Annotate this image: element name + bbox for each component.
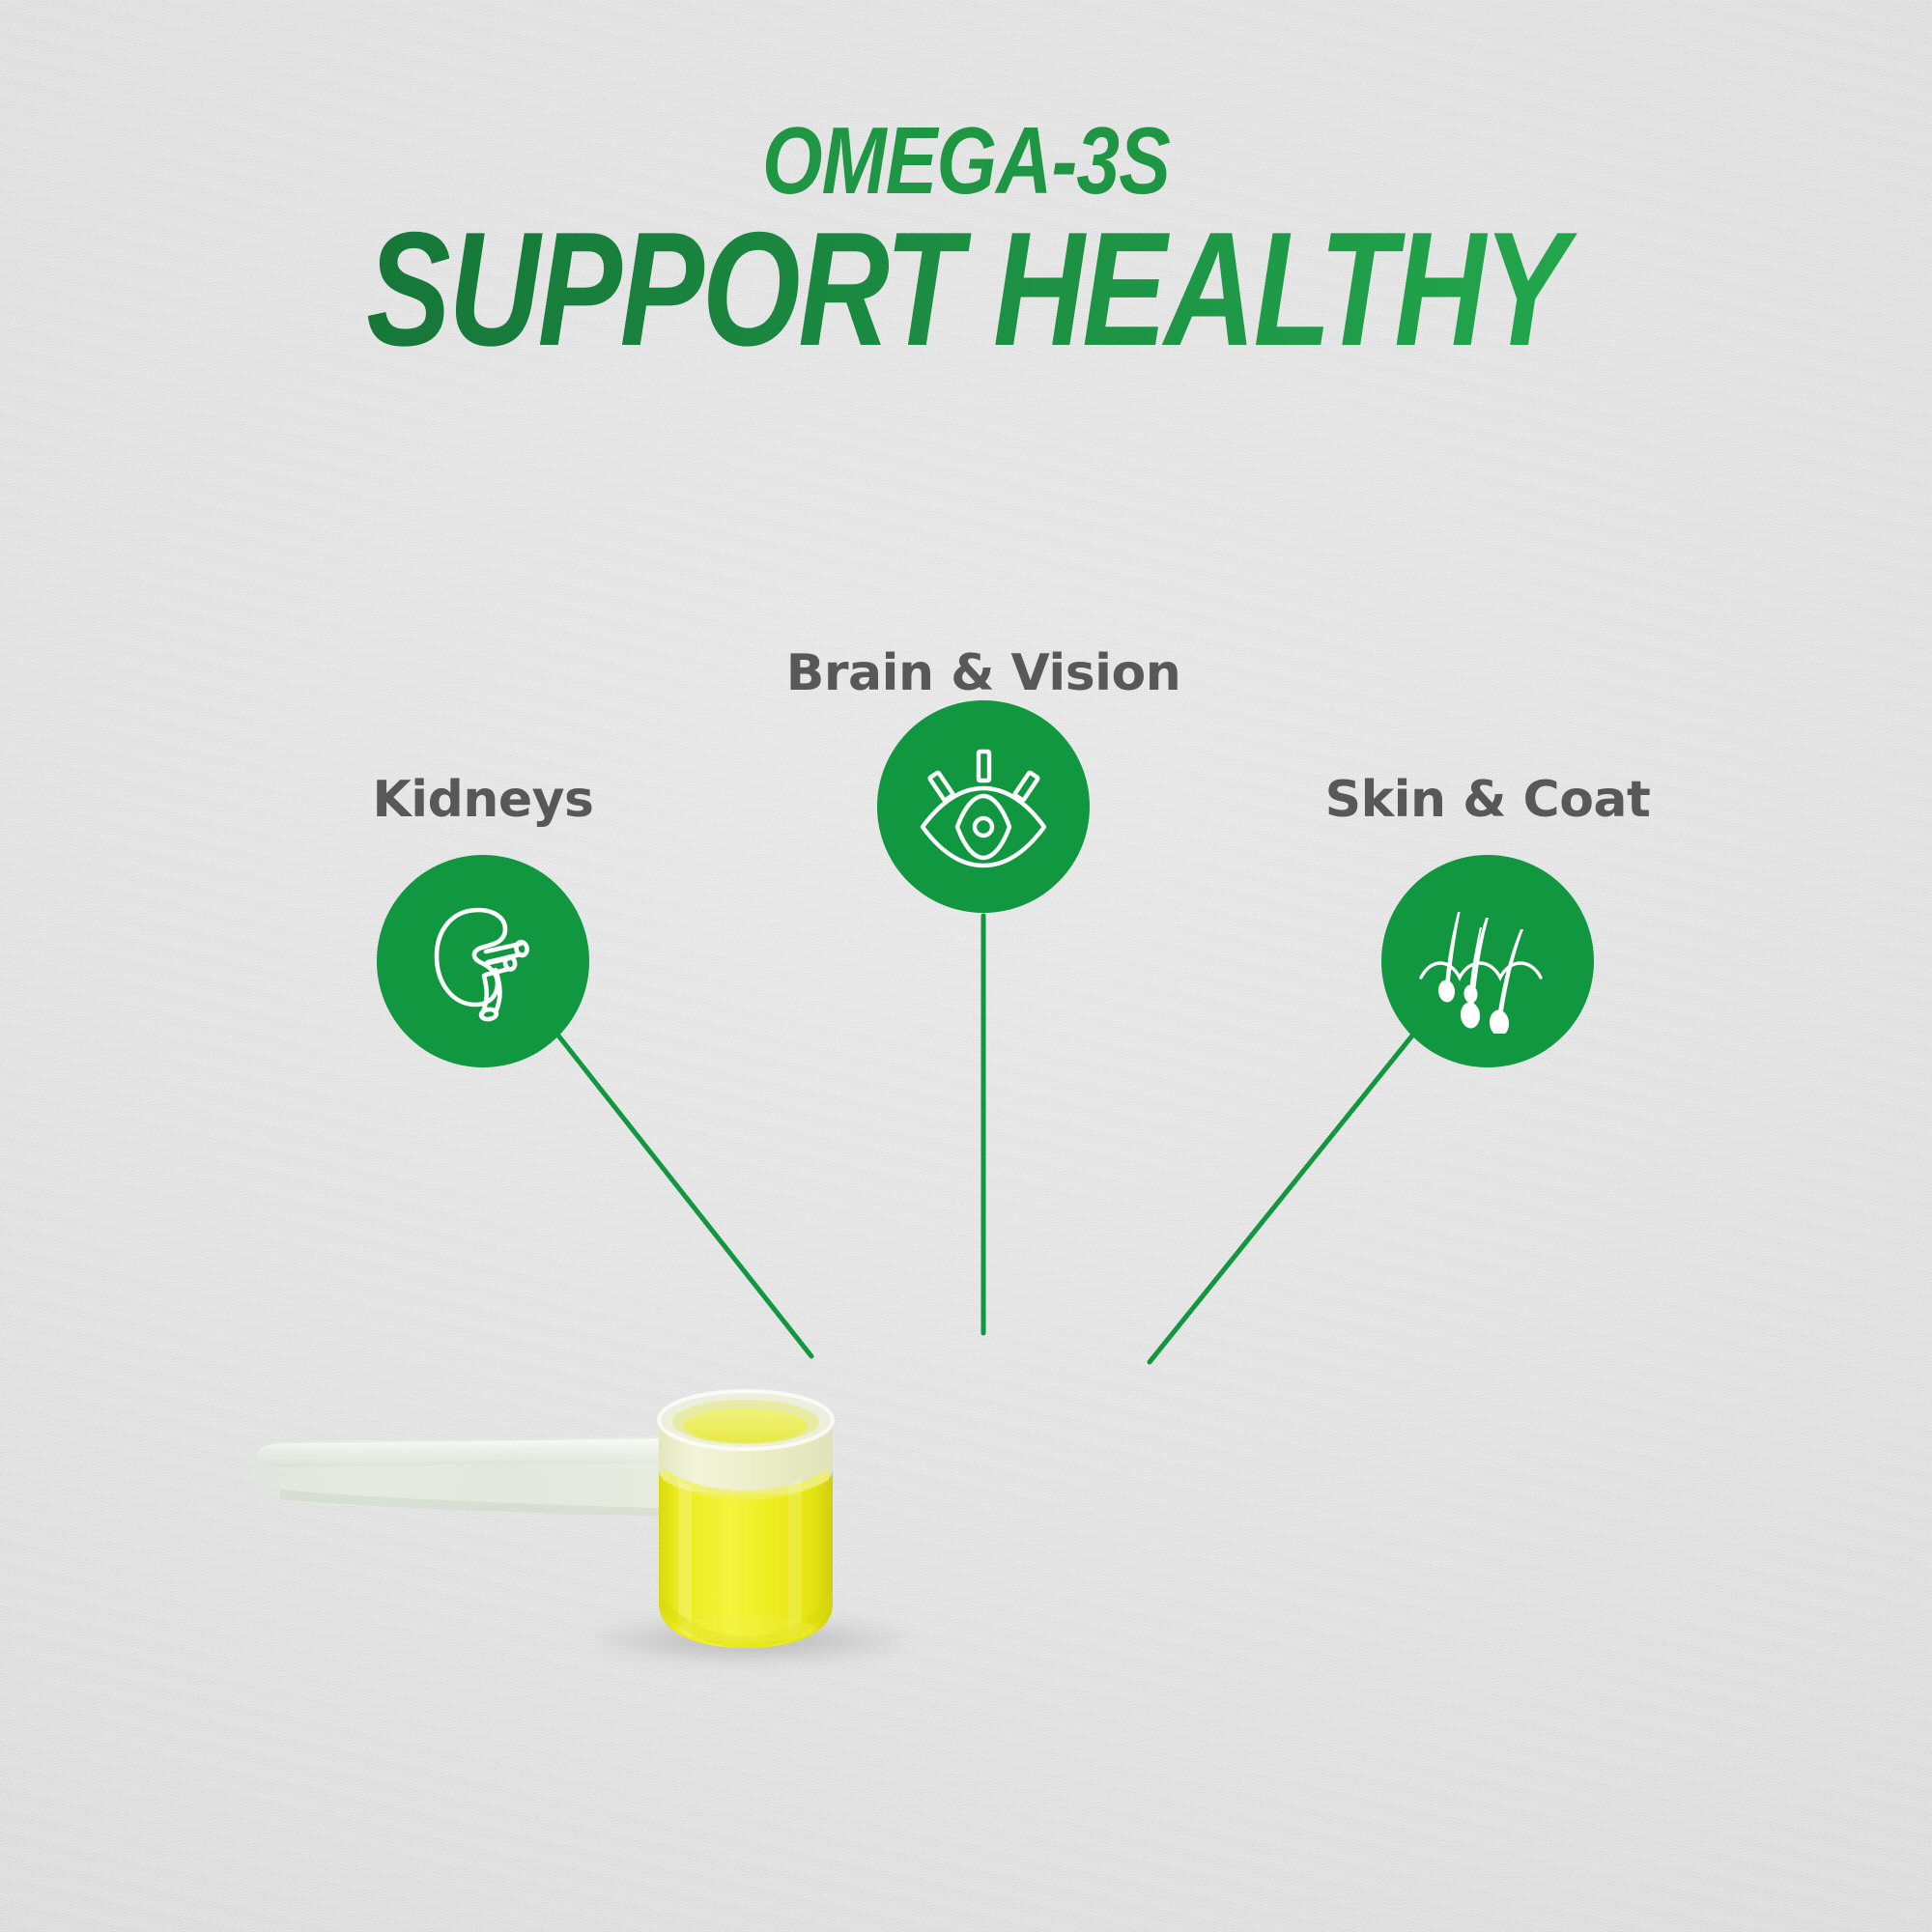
benefit-icon-circle-kidneys[interactable]: [377, 855, 589, 1067]
benefit-label-skin-coat: Skin & Coat: [1325, 771, 1651, 829]
benefit-icon-circle-brain-vision[interactable]: [877, 700, 1090, 913]
scoop-illustration: [241, 1362, 1150, 1671]
product-measuring-scoop: [241, 1362, 1150, 1671]
hair-follicle-icon: [1415, 889, 1560, 1034]
infographic-canvas: OMEGA-3S SUPPORT HEALTHY Kidneys: [0, 0, 1932, 1932]
scoop-handle: [251, 1435, 696, 1517]
kidney-icon: [420, 898, 546, 1024]
benefit-label-kidneys: Kidneys: [373, 771, 594, 829]
benefit-label-brain-vision: Brain & Vision: [786, 644, 1180, 702]
scoop-cup: [659, 1391, 833, 1648]
benefit-icon-circle-skin-coat[interactable]: [1381, 855, 1594, 1067]
eye-icon: [915, 738, 1052, 875]
